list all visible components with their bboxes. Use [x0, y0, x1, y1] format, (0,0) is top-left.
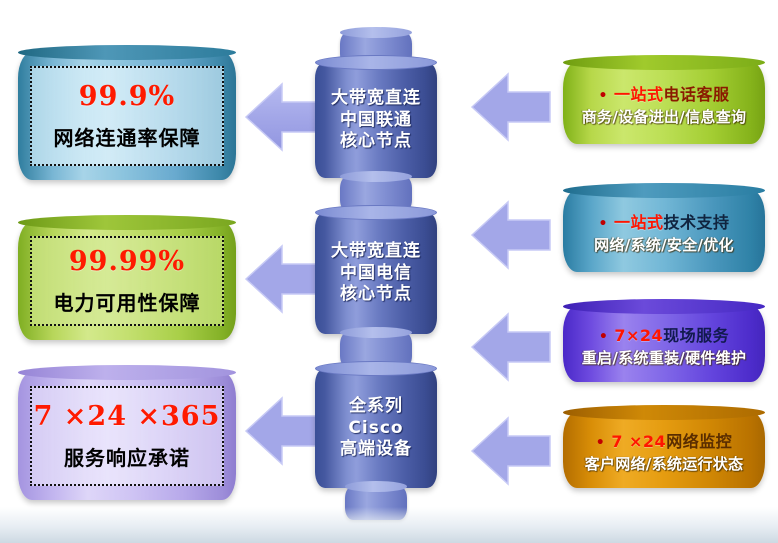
heading-highlight: 一站式	[614, 85, 664, 104]
bullet-dot: •	[598, 216, 607, 232]
metric-value: 99.99%	[69, 246, 185, 277]
center-node-cisco[interactable]: 全系列 Cisco 高端设备	[315, 368, 437, 488]
right-card-detail: 重启/系统重装/硬件维护	[582, 350, 747, 367]
cylinder-top-ellipse	[18, 215, 236, 230]
arrow-right-3	[470, 308, 552, 386]
neck-cap	[340, 171, 412, 182]
right-card-network-monitoring[interactable]: • 7 ×24网络监控 客户网络/系统运行状态	[563, 412, 765, 488]
bullet-dot: •	[599, 329, 608, 345]
slide-bottom-band	[0, 507, 778, 543]
node-line-3: 核心节点	[340, 131, 412, 152]
cylinder-top-ellipse	[18, 45, 236, 60]
right-card-onsite-service[interactable]: • 7×24现场服务 重启/系统重装/硬件维护	[563, 306, 765, 382]
metric-value: 99.9%	[79, 81, 175, 112]
left-card-inner-box: 99.99% 电力可用性保障	[30, 236, 224, 326]
right-card-detail: 客户网络/系统运行状态	[575, 456, 753, 473]
center-node-text: 大带宽直连 中国电信 核心节点	[319, 216, 433, 330]
node-line-3: 核心节点	[340, 284, 412, 305]
right-card-phone-service[interactable]: • 一站式电话客服 商务/设备进出/信息查询	[563, 62, 765, 144]
right-card-tech-support[interactable]: • 一站式技术支持 网络/系统/安全/优化	[563, 190, 765, 272]
right-card-heading: • 一站式电话客服	[598, 81, 729, 105]
node-line-1: 大带宽直连	[331, 241, 421, 262]
heading-rest: 网络监控	[666, 432, 732, 451]
right-card-text: • 7 ×24网络监控 客户网络/系统运行状态	[569, 418, 759, 482]
left-card-power-availability[interactable]: 99.99% 电力可用性保障	[18, 222, 236, 340]
node-line-2: 中国联通	[340, 110, 412, 131]
arrow-right-4	[470, 412, 552, 490]
node-line-2: 中国电信	[340, 263, 412, 284]
bullet-dot: •	[596, 435, 605, 451]
node-line-2: Cisco	[348, 418, 403, 439]
right-card-heading: • 7×24现场服务	[599, 322, 729, 346]
left-card-response-commitment[interactable]: 7 ×24 ×365 服务响应承诺	[18, 372, 236, 500]
heading-rest: 现场服务	[663, 326, 729, 345]
heading-rest: 电话客服	[664, 85, 730, 104]
metric-label: 电力可用性保障	[54, 287, 201, 316]
bullet-dot: •	[598, 88, 607, 104]
right-card-text: • 一站式技术支持 网络/系统/安全/优化	[569, 196, 759, 266]
heading-highlight: 一站式	[614, 213, 664, 232]
arrow-left-1	[244, 78, 324, 156]
cylinder-top-ellipse	[18, 365, 236, 380]
center-node-text: 大带宽直连 中国联通 核心节点	[319, 66, 433, 174]
slide-canvas: 99.9% 网络连通率保障 99.99% 电力可用性保障 7 ×24 ×365 …	[0, 0, 778, 543]
center-node-telecom[interactable]: 大带宽直连 中国电信 核心节点	[315, 212, 437, 334]
node-line-3: 高端设备	[340, 439, 412, 460]
right-card-detail: 网络/系统/安全/优化	[594, 237, 734, 254]
right-card-detail: 商务/设备进出/信息查询	[582, 109, 747, 126]
right-card-heading: • 一站式技术支持	[598, 209, 729, 233]
arrow-right-2	[470, 196, 552, 274]
left-card-inner-box: 7 ×24 ×365 服务响应承诺	[30, 386, 224, 486]
right-card-text: • 一站式电话客服 商务/设备进出/信息查询	[569, 68, 759, 138]
left-card-inner-box: 99.9% 网络连通率保障	[30, 66, 224, 166]
right-card-text: • 7×24现场服务 重启/系统重装/硬件维护	[569, 312, 759, 376]
heading-highlight: 7×24	[614, 326, 663, 345]
center-node-unicom[interactable]: 大带宽直连 中国联通 核心节点	[315, 62, 437, 178]
metric-label: 网络连通率保障	[54, 122, 201, 151]
right-card-heading: • 7 ×24网络监控	[596, 428, 732, 452]
node-line-1: 全系列	[349, 396, 403, 417]
neck-cap	[340, 327, 412, 338]
left-card-network-availability[interactable]: 99.9% 网络连通率保障	[18, 52, 236, 180]
metric-value: 7 ×24 ×365	[34, 401, 221, 432]
heading-rest: 技术支持	[664, 213, 730, 232]
neck-cap	[340, 27, 412, 38]
arrow-left-2	[244, 240, 324, 318]
neck-cap	[345, 481, 407, 492]
arrow-right-1	[470, 68, 552, 146]
center-node-text: 全系列 Cisco 高端设备	[319, 372, 433, 484]
metric-label: 服务响应承诺	[64, 442, 190, 471]
heading-highlight: 7 ×24	[611, 432, 666, 451]
node-line-1: 大带宽直连	[331, 88, 421, 109]
arrow-left-3	[244, 392, 324, 470]
